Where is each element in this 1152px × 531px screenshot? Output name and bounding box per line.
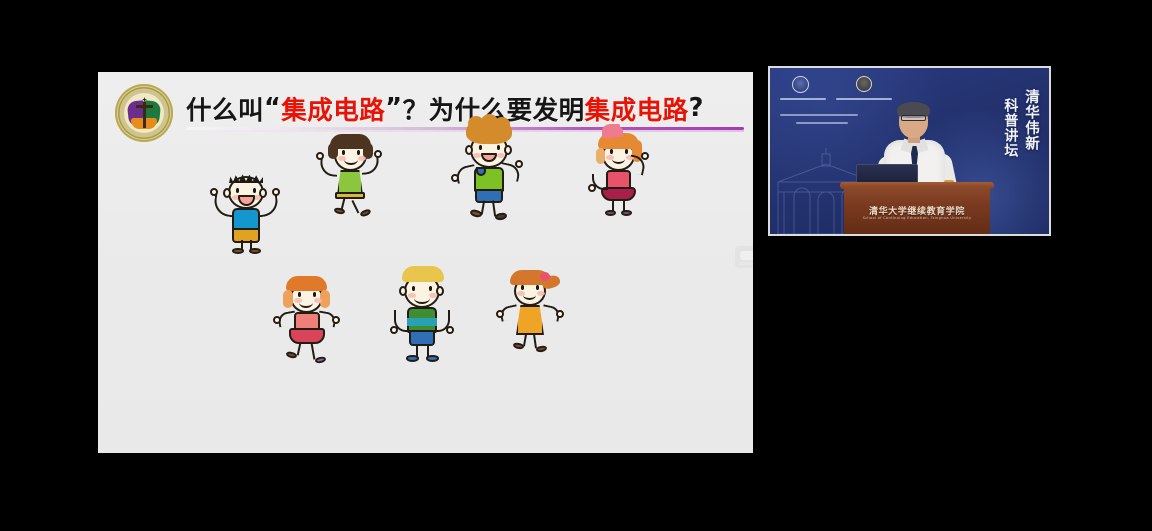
hair-curl-1: [414, 268, 426, 278]
shoe-right: [314, 356, 326, 364]
screen-root: 什么叫 “ 集成电路 ” ？ 为什么要发明 集成电路 ?: [0, 0, 1152, 531]
cheek-right: [314, 298, 322, 303]
mouth: [414, 292, 430, 304]
title-question-2: ?: [689, 93, 704, 123]
hand-left: [390, 326, 398, 334]
banner-vertical-title: 清华伟新 科普讲坛: [1001, 82, 1039, 158]
slide-watermark-icon: [735, 246, 753, 268]
shoe-left: [333, 207, 345, 215]
dress: [516, 305, 544, 335]
hand-left: [316, 152, 324, 160]
cheek-right: [497, 153, 505, 158]
watermark-lens: [740, 251, 753, 260]
child-boy-curly-orange: [446, 114, 528, 222]
ear-left: [399, 286, 407, 296]
child-girl-brown-hair: [316, 130, 388, 226]
shoe-right: [621, 210, 632, 216]
title-quote-close: ”: [385, 93, 402, 123]
cheek-left: [473, 153, 481, 158]
hand-right: [374, 150, 382, 158]
hand-left: [273, 316, 281, 324]
child-girl-red-skirt: [270, 268, 344, 368]
title-quote-open: “: [264, 93, 281, 123]
hair-curl-2: [426, 269, 438, 279]
glasses-icon: [901, 115, 926, 121]
hair-curl-3: [494, 117, 510, 132]
ear-left: [465, 145, 473, 155]
shoe-left: [406, 355, 419, 362]
emblem-inner: [124, 93, 164, 133]
hand-right: [515, 160, 523, 168]
emblem-crossbar: [136, 105, 153, 108]
podium-subtitle: School of Continuing Education, Tsinghua…: [844, 216, 990, 220]
child-girl-pink-bow: [582, 122, 654, 222]
host-line-1: [780, 114, 858, 116]
hand-left: [588, 184, 596, 192]
child-boy-black-hair: [208, 166, 282, 252]
cheek-right: [429, 293, 437, 298]
speaker-video-panel[interactable]: 清华伟新 科普讲坛 清华大学继续教育学院 School of Continuin…: [768, 66, 1051, 236]
hand-left: [451, 174, 459, 182]
hand-right: [641, 152, 649, 160]
mouth: [523, 290, 536, 300]
hand-left: [210, 188, 218, 196]
hand-right: [332, 316, 340, 324]
title-seg-accent-2: 集成电路: [585, 90, 689, 127]
title-question-1: ？: [403, 90, 429, 127]
shoe-right: [494, 212, 507, 221]
shoe-right: [426, 355, 439, 362]
shirt-stripe: [407, 318, 437, 326]
hand-right: [556, 310, 564, 318]
org-line-2a: [836, 98, 892, 100]
shoe-right: [536, 345, 548, 353]
title-seg-0: 什么叫: [186, 90, 264, 127]
org-logo-2-icon: [856, 76, 872, 92]
banner-title-line-2: 科普讲坛: [1001, 98, 1018, 158]
banner-title-line-1: 清华伟新: [1021, 82, 1039, 158]
hair-braid: [596, 148, 605, 164]
hand-left: [496, 310, 504, 318]
podium: 清华大学继续教育学院 School of Continuing Educatio…: [844, 186, 990, 234]
org-line-1a: [780, 98, 826, 100]
ear-right: [436, 286, 444, 296]
child-boy-blonde-green: [384, 260, 460, 368]
host-line-2: [796, 122, 848, 124]
hair-tie-icon: [540, 272, 550, 281]
hair-braid-left: [283, 290, 293, 308]
presentation-slide[interactable]: 什么叫 “ 集成电路 ” ？ 为什么要发明 集成电路 ?: [98, 72, 753, 453]
institution-emblem-icon: [115, 84, 173, 142]
shoe-right: [249, 248, 261, 254]
ear-right: [504, 145, 512, 155]
mouth: [344, 154, 358, 165]
bow-icon-2: [610, 126, 623, 137]
shoe-left: [232, 248, 244, 254]
hand-right: [446, 326, 454, 334]
mouth: [299, 297, 313, 308]
child-girl-ponytail: [494, 262, 568, 358]
hand-right: [272, 188, 280, 196]
title-seg-accent-1: 集成电路: [281, 90, 385, 127]
org-logo-1-icon: [792, 76, 809, 93]
cheek-right: [537, 291, 545, 296]
mouth: [612, 154, 625, 164]
watermark-bar: [739, 262, 753, 265]
shoe-left: [605, 210, 616, 216]
hair: [286, 276, 327, 291]
